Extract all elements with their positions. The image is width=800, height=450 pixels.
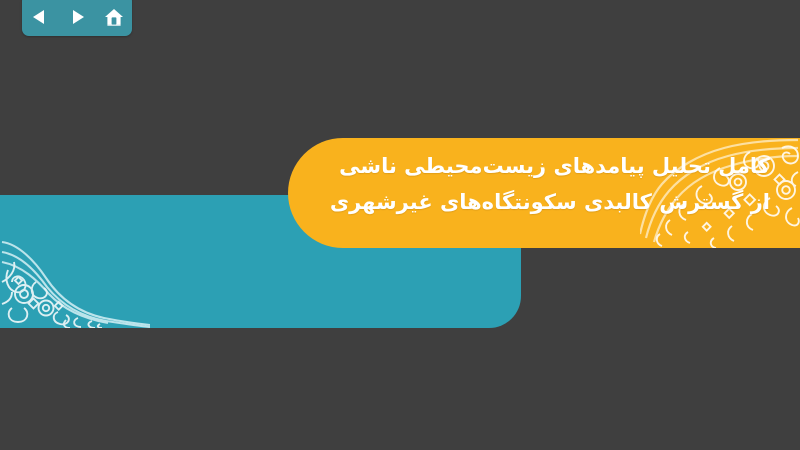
previous-slide-button[interactable] bbox=[27, 5, 53, 29]
slide-navigation-bar bbox=[22, 0, 132, 36]
triangle-left-icon bbox=[30, 7, 50, 27]
yellow-title-band bbox=[288, 138, 800, 248]
arabesque-ornament-icon bbox=[640, 138, 800, 248]
presentation-slide: کامل تحلیل پیامدهای زیست‌محیطی ناشی از گ… bbox=[0, 0, 800, 450]
home-icon bbox=[103, 7, 125, 27]
home-button[interactable] bbox=[101, 5, 127, 29]
arabesque-ornament-icon bbox=[0, 208, 150, 328]
triangle-right-icon bbox=[67, 7, 87, 27]
next-slide-button[interactable] bbox=[64, 5, 90, 29]
